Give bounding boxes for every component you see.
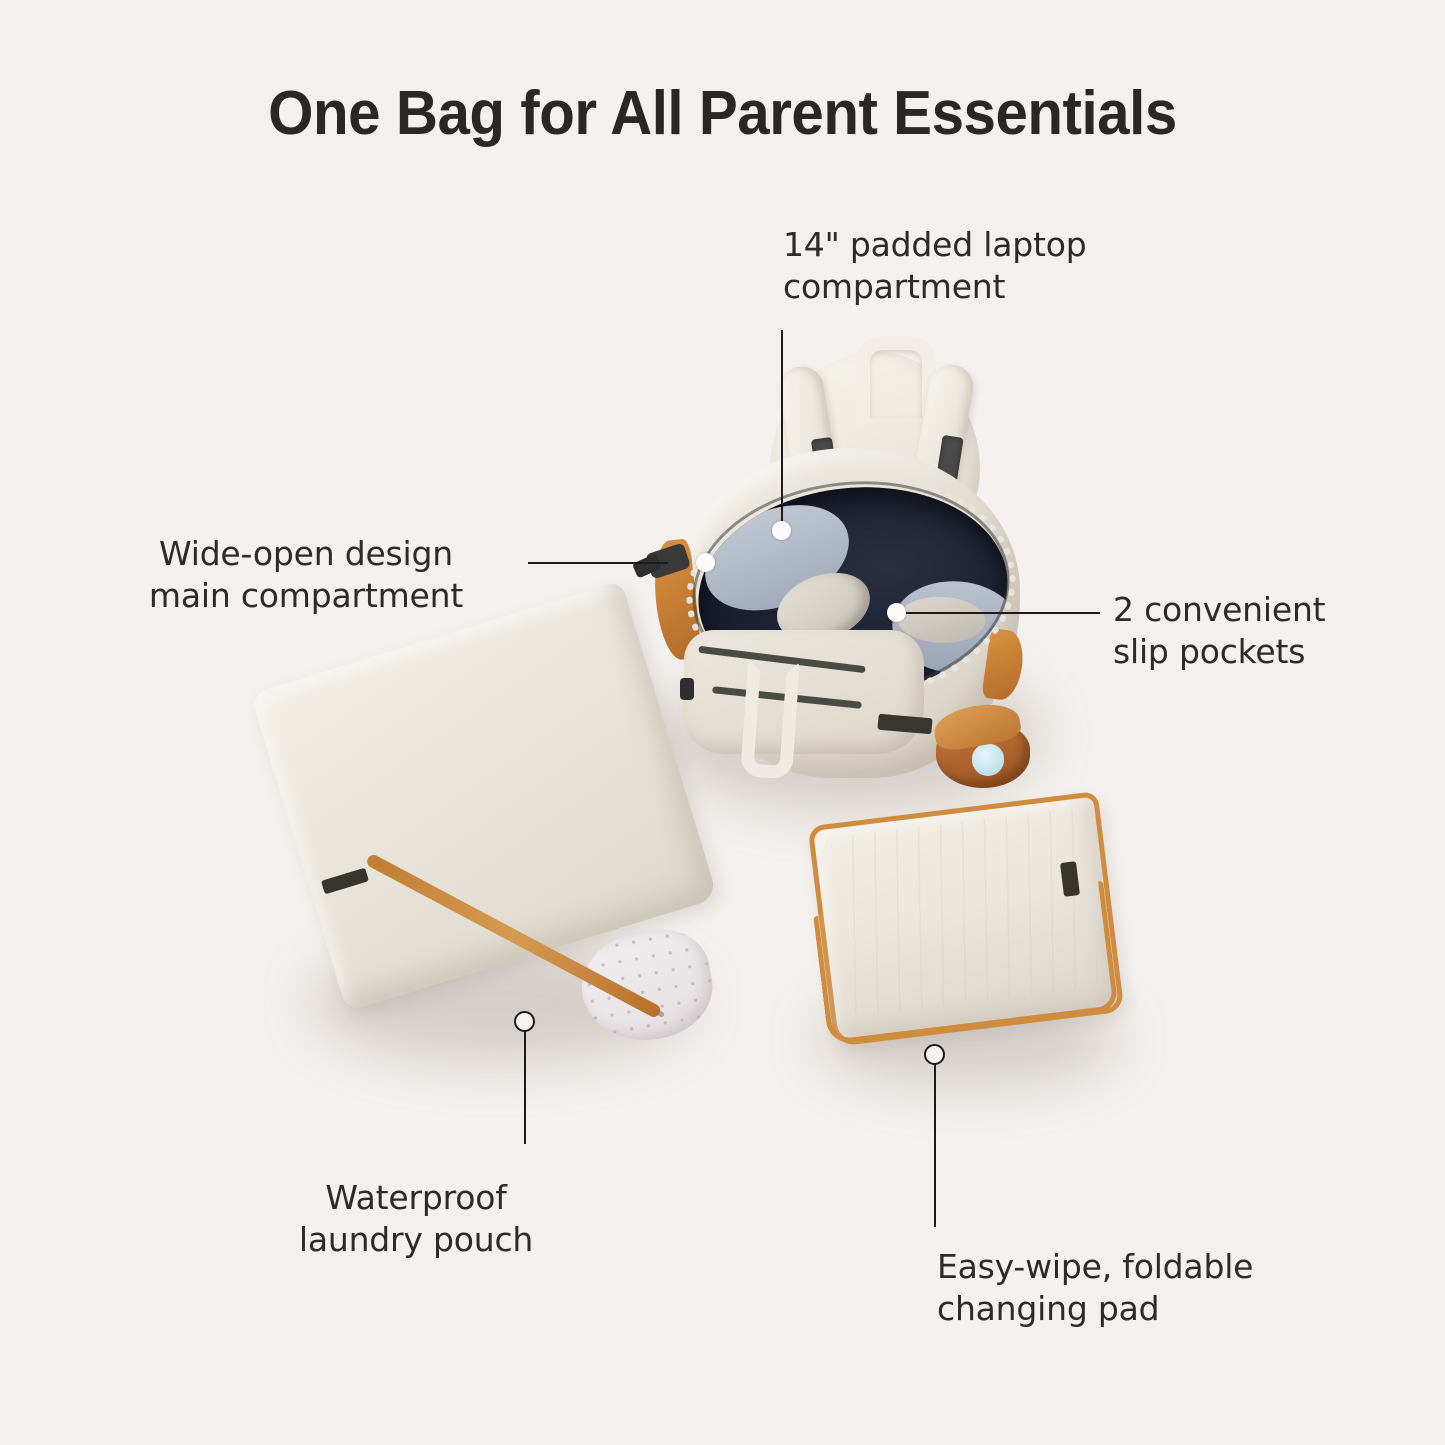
callout-dot-changing-pad	[924, 1044, 945, 1065]
callout-dot-laptop-compartment	[772, 521, 791, 540]
leader-line-laptop-compartment	[781, 330, 783, 530]
callout-label-laptop-compartment: 14" padded laptop compartment	[783, 224, 1203, 307]
pacifier	[972, 744, 1004, 776]
callout-dot-slip-pockets	[887, 603, 906, 622]
callout-label-slip-pockets: 2 convenient slip pockets	[1113, 589, 1413, 672]
leader-line-slip-pockets	[898, 612, 1100, 614]
callout-dot-main-compartment	[696, 553, 715, 572]
leader-line-changing-pad	[934, 1055, 936, 1227]
leader-line-laundry-pouch	[524, 1022, 526, 1144]
callout-label-laundry-pouch: Waterproof laundry pouch	[236, 1177, 596, 1260]
callout-label-changing-pad: Easy-wipe, foldable changing pad	[937, 1246, 1327, 1329]
callout-label-main-compartment: Wide-open design main compartment	[96, 533, 516, 616]
callout-dot-laundry-pouch	[514, 1011, 535, 1032]
product-changing-pad	[800, 800, 1140, 1090]
leader-line-main-compartment	[528, 562, 668, 564]
page-title: One Bag for All Parent Essentials	[43, 78, 1401, 149]
product-pacifier-pouch	[932, 704, 1034, 790]
infographic-canvas: One Bag for All Parent Essentials	[0, 0, 1445, 1445]
